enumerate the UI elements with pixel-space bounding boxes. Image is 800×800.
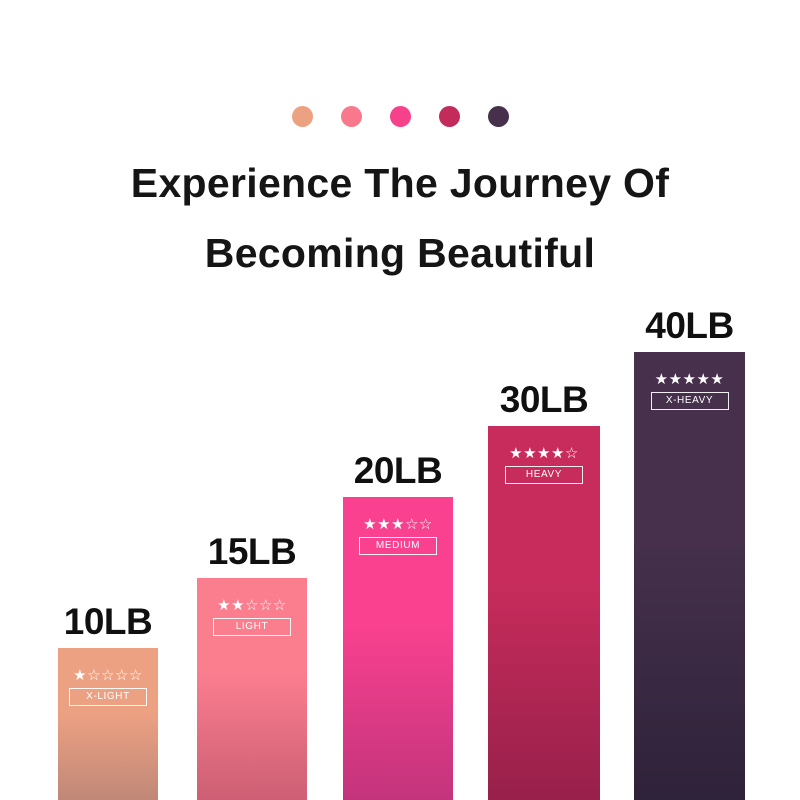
- infographic-page: Experience The Journey Of Becoming Beaut…: [0, 0, 800, 800]
- bar-group-20lb[interactable]: 20LB★★★☆☆MEDIUM: [343, 497, 453, 800]
- star-filled-icon: ★: [377, 516, 391, 533]
- star-empty-icon: ☆: [115, 667, 129, 684]
- bar-level-label: X-HEAVY: [651, 392, 729, 410]
- bar-weight-label-15lb: 15LB: [208, 532, 296, 572]
- star-empty-icon: ☆: [129, 667, 143, 684]
- star-filled-icon: ★: [655, 371, 669, 388]
- star-filled-icon: ★: [231, 597, 245, 614]
- star-rating-icon-group: ★★★☆☆: [359, 516, 437, 533]
- bar-group-30lb[interactable]: 30LB★★★★☆HEAVY: [488, 426, 600, 800]
- star-filled-icon: ★: [73, 667, 87, 684]
- star-empty-icon: ☆: [405, 516, 419, 533]
- bar-badge-x-heavy: ★★★★★X-HEAVY: [651, 371, 729, 410]
- star-filled-icon: ★: [710, 371, 724, 388]
- bar-weight-label-10lb: 10LB: [64, 602, 152, 642]
- bar-level-label: HEAVY: [505, 466, 583, 484]
- bar-weight-label-20lb: 20LB: [354, 451, 442, 491]
- star-filled-icon: ★: [363, 516, 377, 533]
- bar-badge-heavy: ★★★★☆HEAVY: [505, 445, 583, 484]
- bar-badge-light: ★★☆☆☆LIGHT: [213, 597, 291, 636]
- star-filled-icon: ★: [683, 371, 697, 388]
- star-filled-icon: ★: [391, 516, 405, 533]
- star-rating-icon-group: ★☆☆☆☆: [69, 667, 147, 684]
- star-filled-icon: ★: [523, 445, 537, 462]
- bar-weight-label-40lb: 40LB: [645, 306, 733, 346]
- star-empty-icon: ☆: [87, 667, 101, 684]
- bar-group-40lb[interactable]: 40LB★★★★★X-HEAVY: [634, 352, 745, 800]
- bar-40lb[interactable]: [634, 352, 745, 800]
- star-filled-icon: ★: [537, 445, 551, 462]
- star-empty-icon: ☆: [259, 597, 273, 614]
- star-empty-icon: ☆: [101, 667, 115, 684]
- star-rating-icon-group: ★★★★★: [651, 371, 729, 388]
- bar-level-label: LIGHT: [213, 618, 291, 636]
- bar-level-label: MEDIUM: [359, 537, 437, 555]
- star-empty-icon: ☆: [565, 445, 579, 462]
- bar-group-15lb[interactable]: 15LB★★☆☆☆LIGHT: [197, 578, 307, 800]
- resistance-band-bar-chart: 10LB★☆☆☆☆X-LIGHT15LB★★☆☆☆LIGHT20LB★★★☆☆M…: [0, 0, 800, 800]
- bar-group-10lb[interactable]: 10LB★☆☆☆☆X-LIGHT: [58, 648, 158, 800]
- star-filled-icon: ★: [551, 445, 565, 462]
- star-filled-icon: ★: [696, 371, 710, 388]
- bar-badge-medium: ★★★☆☆MEDIUM: [359, 516, 437, 555]
- star-rating-icon-group: ★★★★☆: [505, 445, 583, 462]
- star-empty-icon: ☆: [419, 516, 433, 533]
- bar-weight-label-30lb: 30LB: [500, 380, 588, 420]
- star-filled-icon: ★: [669, 371, 683, 388]
- bar-level-label: X-LIGHT: [69, 688, 147, 706]
- star-rating-icon-group: ★★☆☆☆: [213, 597, 291, 614]
- star-empty-icon: ☆: [245, 597, 259, 614]
- star-filled-icon: ★: [217, 597, 231, 614]
- bar-badge-x-light: ★☆☆☆☆X-LIGHT: [69, 667, 147, 706]
- star-filled-icon: ★: [509, 445, 523, 462]
- star-empty-icon: ☆: [273, 597, 287, 614]
